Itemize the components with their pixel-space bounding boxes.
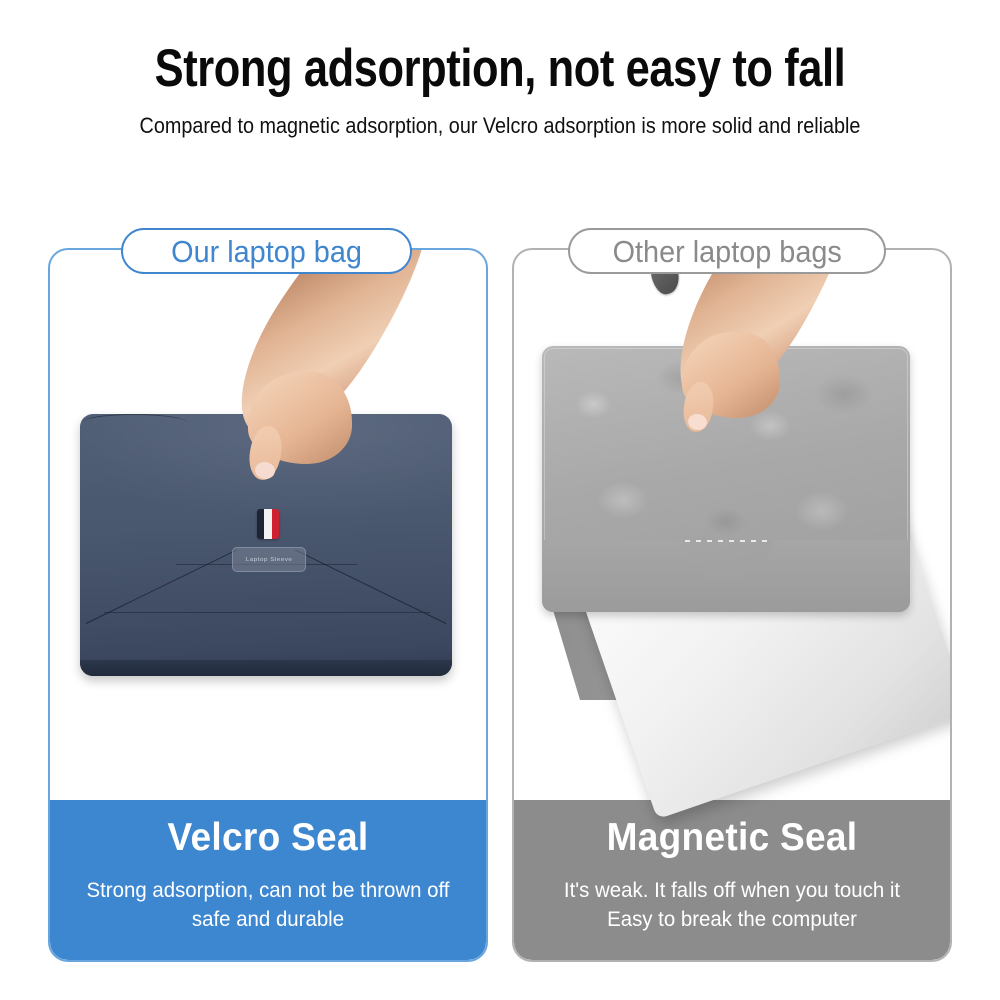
ribbon-stripe-navy (257, 509, 264, 539)
tricolor-ribbon-tab (257, 509, 279, 539)
ribbon-stripe-red (272, 509, 279, 539)
comparison-panel-ours: Laptop Sleeve Velcro Seal Strong adsorpt… (48, 248, 488, 962)
panel-content-ours: Laptop Sleeve Velcro Seal Strong adsorpt… (50, 250, 486, 960)
page-title: Strong adsorption, not easy to fall (90, 38, 910, 99)
caption-title-velcro: Velcro Seal (61, 816, 475, 860)
page-subtitle: Compared to magnetic adsorption, our Vel… (60, 113, 940, 139)
badge-other-laptop-bags-label: Other laptop bags (612, 236, 841, 267)
brand-label-patch: Laptop Sleeve (232, 547, 306, 572)
caption-title-magnetic: Magnetic Seal (525, 816, 939, 860)
bag-bottom-edge (80, 660, 452, 676)
header: Strong adsorption, not easy to fall Comp… (0, 0, 1000, 139)
badge-our-laptop-bag-label: Our laptop bag (171, 236, 362, 267)
badge-our-laptop-bag: Our laptop bag (121, 228, 412, 274)
caption-line-1-magnetic: It's weak. It falls off when you touch i… (525, 878, 939, 903)
caption-line-1-velcro: Strong adsorption, can not be thrown off (61, 878, 475, 903)
caption-line-2-magnetic: Easy to break the computer (525, 907, 939, 932)
sleeve-flap (542, 540, 910, 612)
badge-other-laptop-bags: Other laptop bags (568, 228, 886, 274)
bag-stitch-line-lower (104, 612, 430, 613)
ribbon-stripe-white (264, 509, 271, 539)
comparison-panel-others: Magnetic Seal It's weak. It falls off wh… (512, 248, 952, 962)
caption-bar-magnetic: Magnetic Seal It's weak. It falls off wh… (514, 800, 950, 960)
brand-label-text: Laptop Sleeve (246, 556, 293, 562)
caption-bar-velcro: Velcro Seal Strong adsorption, can not b… (50, 800, 486, 960)
panel-content-others: Magnetic Seal It's weak. It falls off wh… (514, 250, 950, 960)
caption-line-2-velcro: safe and durable (61, 907, 475, 932)
